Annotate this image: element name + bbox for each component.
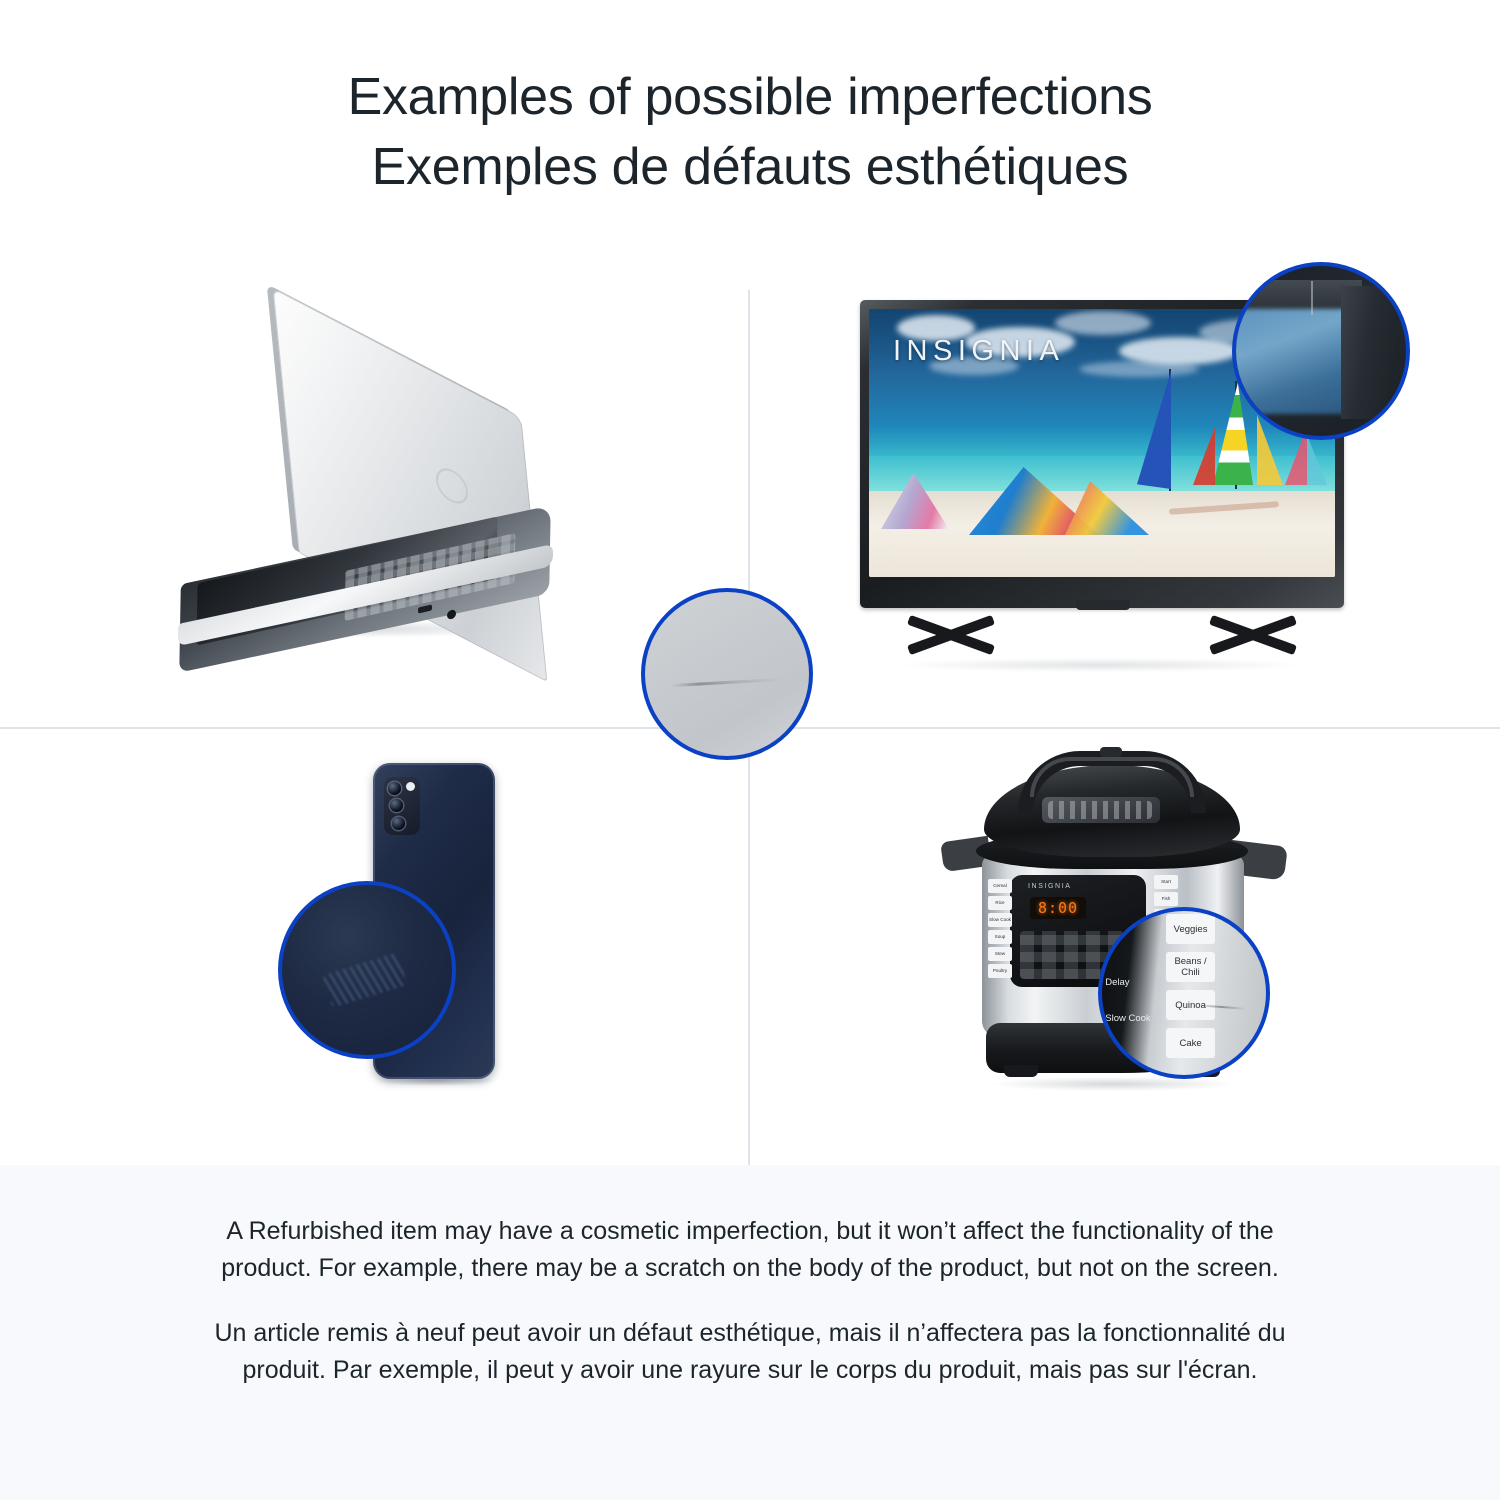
cooker-zoom-button: Cake bbox=[1166, 1028, 1215, 1058]
cooker-display: 8:00 bbox=[1030, 897, 1086, 919]
cloud-shape bbox=[1055, 311, 1151, 335]
cooker-lid-handle-highlight bbox=[1030, 757, 1194, 797]
cloud-shape bbox=[1079, 361, 1199, 377]
cooker-pressure-valve-icon bbox=[1100, 747, 1122, 757]
phone-scuff-detail bbox=[323, 953, 408, 1008]
description-paragraph-french: Un article remis à neuf peut avoir un dé… bbox=[185, 1315, 1315, 1389]
tv-corner-screen-detail bbox=[1232, 309, 1348, 414]
description-footer: A Refurbished item may have a cosmetic i… bbox=[0, 1165, 1500, 1500]
cooker-button[interactable]: Rice bbox=[988, 896, 1012, 910]
cooker-button[interactable]: Cereal bbox=[988, 879, 1012, 893]
cooker-display-value: 8:00 bbox=[1038, 899, 1078, 917]
cooker-brand-logo: INSIGNIA bbox=[1028, 883, 1072, 890]
cooker-button[interactable]: Start bbox=[1154, 875, 1178, 889]
laptop-illustration bbox=[175, 370, 595, 650]
magnifier-circle-tv bbox=[1232, 262, 1410, 440]
magnifier-circle-pressure-cooker: Delay Slow Cook Veggies Beans / Chili Qu… bbox=[1098, 907, 1270, 1079]
tv-shadow bbox=[900, 658, 1300, 672]
pressure-cooker-shadow bbox=[994, 1077, 1234, 1091]
title-line-english: Examples of possible imperfections bbox=[348, 62, 1153, 132]
tv-corner-frame-detail bbox=[1341, 286, 1399, 419]
cooker-button[interactable]: Fish bbox=[1154, 892, 1178, 906]
page-title: Examples of possible imperfections Exemp… bbox=[0, 0, 1500, 250]
phone-camera-module bbox=[384, 777, 420, 835]
cooker-button-column-left[interactable]: Cereal Rice Slow Cook Soup Stew Poultry bbox=[988, 879, 1012, 978]
cooker-zoom-button: Beans / Chili bbox=[1166, 952, 1215, 982]
pressure-cooker-illustration: INSIGNIA 8:00 Cereal Rice Slow Cook Soup… bbox=[938, 747, 1298, 1117]
cooker-button[interactable]: Poultry bbox=[988, 964, 1012, 978]
cooker-zoom-label: Slow Cook bbox=[1105, 1013, 1150, 1024]
panel-phone bbox=[0, 729, 748, 1165]
panel-pressure-cooker: INSIGNIA 8:00 Cereal Rice Slow Cook Soup… bbox=[750, 729, 1500, 1165]
cooker-button[interactable]: Slow Cook bbox=[988, 913, 1012, 927]
cooker-zoom-button-column: Veggies Beans / Chili Quinoa Cake bbox=[1166, 914, 1215, 1058]
cooker-button[interactable]: Stew bbox=[988, 947, 1012, 961]
camera-lens-icon bbox=[390, 799, 403, 812]
camera-lens-icon bbox=[388, 782, 401, 795]
phone-illustration bbox=[248, 763, 498, 1113]
camera-lens-icon bbox=[392, 817, 405, 830]
tv-brand-logo: INSIGNIA bbox=[893, 335, 1064, 368]
description-paragraph-english: A Refurbished item may have a cosmetic i… bbox=[185, 1213, 1315, 1287]
tv-corner-blemish-detail bbox=[1311, 281, 1313, 315]
examples-grid: INSIGNIA bbox=[0, 250, 1500, 1165]
panel-laptop bbox=[0, 250, 748, 727]
cooker-foot-left bbox=[1004, 1065, 1038, 1077]
tv-neck bbox=[1076, 600, 1130, 610]
magnifier-circle-phone bbox=[278, 881, 456, 1059]
tv-illustration: INSIGNIA bbox=[860, 300, 1360, 680]
camera-flash-icon bbox=[406, 782, 415, 791]
cooker-zoom-button: Veggies bbox=[1166, 914, 1215, 944]
cooker-button[interactable]: Soup bbox=[988, 930, 1012, 944]
title-line-french: Exemples de défauts esthétiques bbox=[372, 132, 1129, 202]
refurbished-imperfections-infographic: Examples of possible imperfections Exemp… bbox=[0, 0, 1500, 1500]
cooker-zoom-label: Delay bbox=[1105, 977, 1129, 988]
panel-tv: INSIGNIA bbox=[750, 250, 1500, 727]
